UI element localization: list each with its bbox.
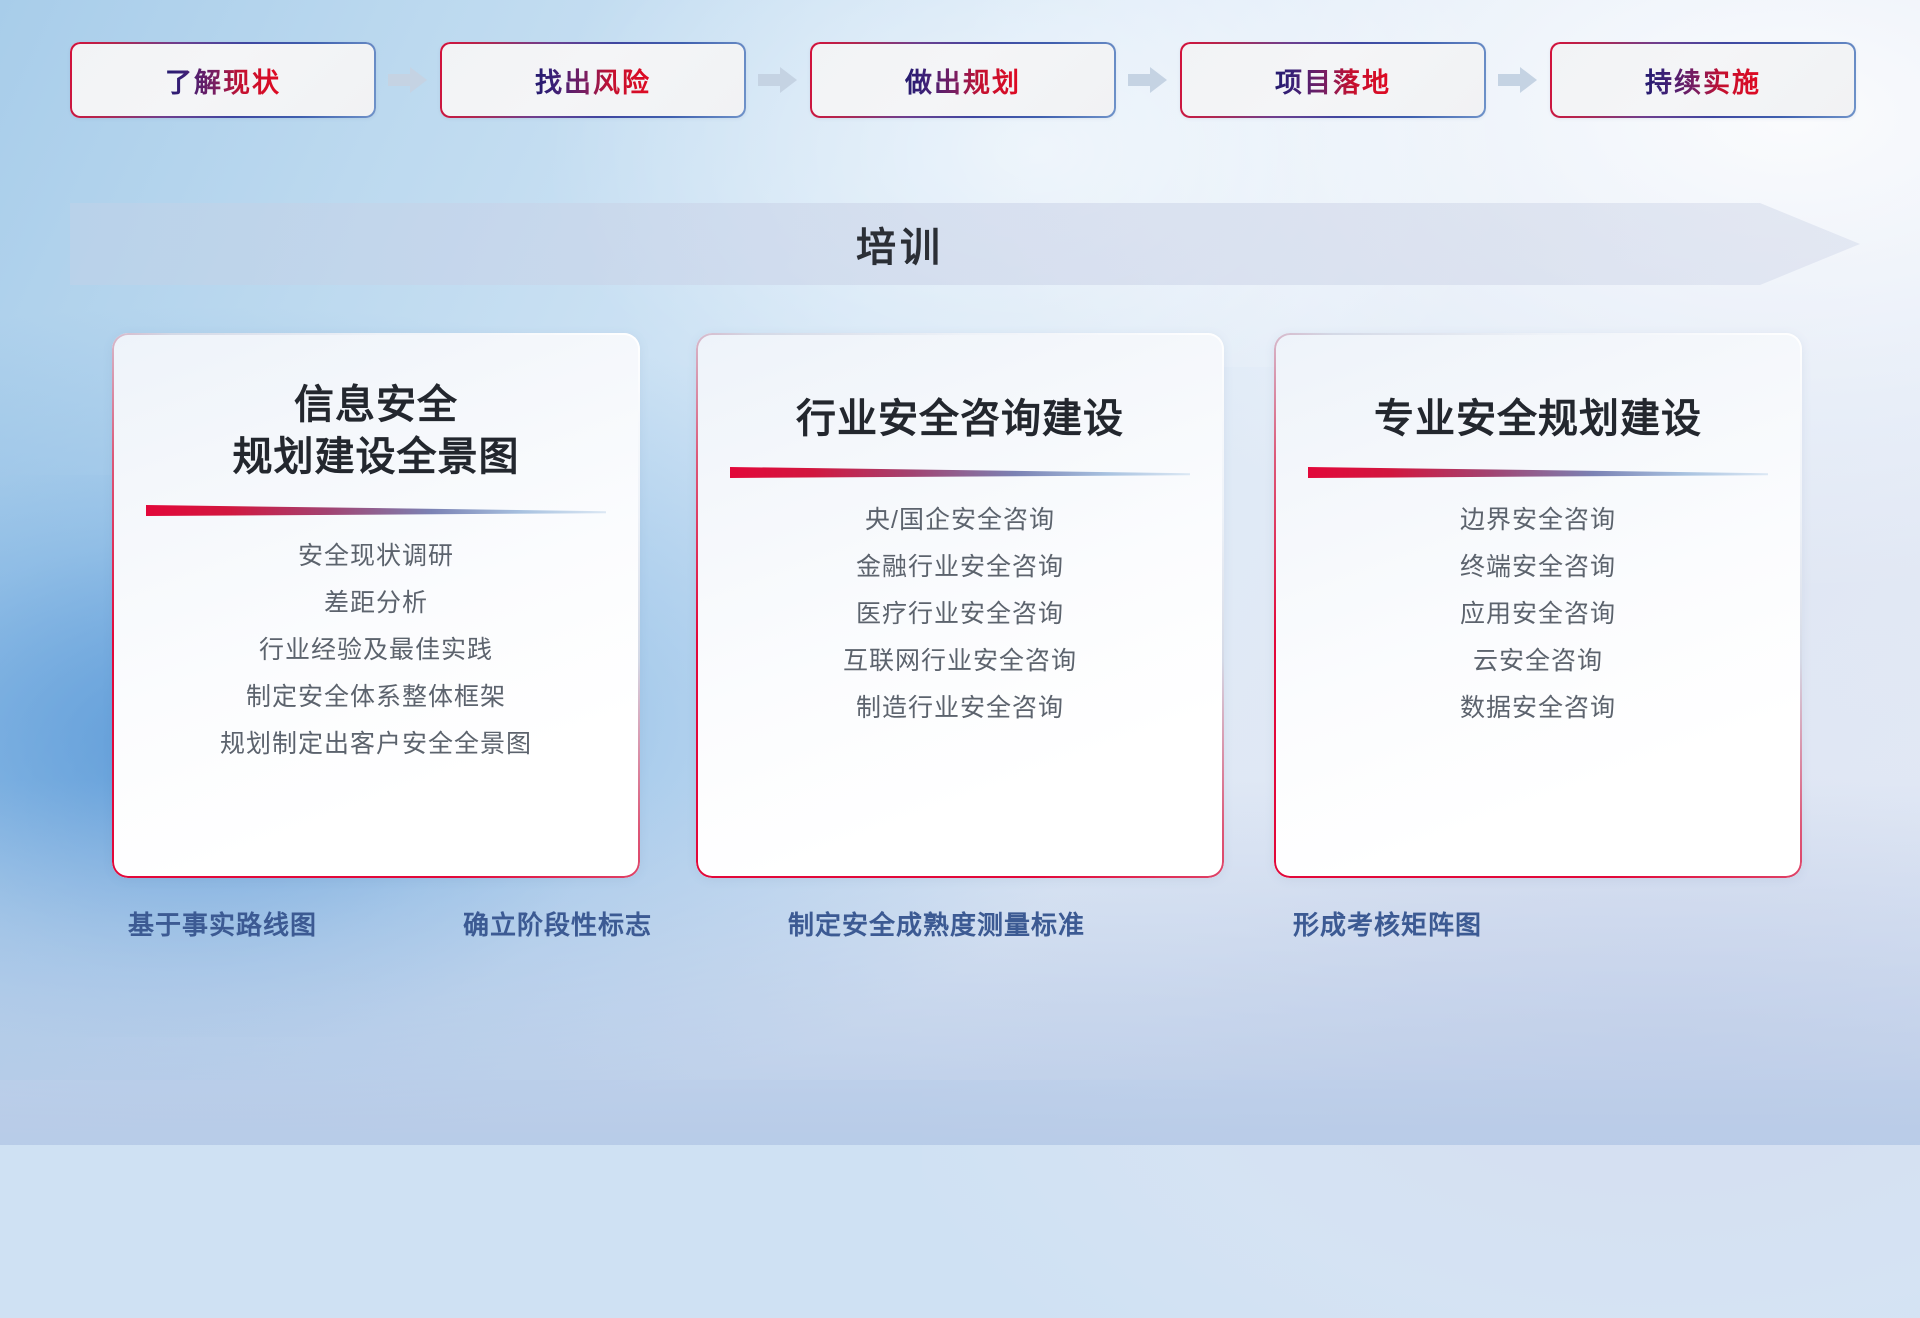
- list-item: 金融行业安全咨询: [856, 552, 1064, 582]
- list-item: 边界安全咨询: [1460, 505, 1616, 535]
- step-box-2[interactable]: 做出规划: [810, 42, 1116, 118]
- list-item: 规划制定出客户安全全景图: [220, 729, 532, 759]
- tapered-gradient-divider-icon: [1308, 465, 1768, 481]
- footer-label-roadmap: 基于事实路线图: [128, 905, 317, 942]
- step-arrow-3: [1486, 65, 1550, 95]
- list-item: 医疗行业安全咨询: [856, 599, 1064, 629]
- training-banner-label: 培训: [70, 203, 1730, 285]
- step-arrow-2: [1116, 65, 1180, 95]
- tapered-gradient-divider-icon: [146, 503, 606, 519]
- card-title: 行业安全咨询建设: [796, 393, 1124, 445]
- list-item: 数据安全咨询: [1460, 693, 1616, 723]
- step-label-3: 项目落地: [1275, 61, 1391, 100]
- list-item: 终端安全咨询: [1460, 552, 1616, 582]
- step-label-1: 找出风险: [535, 61, 651, 100]
- card-item-list: 央/国企安全咨询 金融行业安全咨询 医疗行业安全咨询 互联网行业安全咨询 制造行…: [843, 505, 1077, 723]
- step-arrow-1: [746, 65, 810, 95]
- card-item-list: 边界安全咨询 终端安全咨询 应用安全咨询 云安全咨询 数据安全咨询: [1460, 505, 1616, 723]
- list-item: 云安全咨询: [1473, 646, 1603, 676]
- list-item: 安全现状调研: [298, 541, 454, 571]
- footer-label-milestone: 确立阶段性标志: [463, 905, 652, 942]
- step-label-4: 持续实施: [1645, 61, 1761, 100]
- card-industry-security-consulting[interactable]: 行业安全咨询建设: [696, 333, 1224, 878]
- step-box-3[interactable]: 项目落地: [1180, 42, 1486, 118]
- cards-row: 信息安全 规划建设全景图: [0, 333, 1920, 878]
- card-divider: [730, 465, 1190, 481]
- list-item: 制定安全体系整体框架: [246, 682, 506, 712]
- step-wrap-0: 了解现状: [70, 42, 440, 118]
- list-item: 应用安全咨询: [1460, 599, 1616, 629]
- footer-label-matrix: 形成考核矩阵图: [1293, 905, 1482, 942]
- card-item-list: 安全现状调研 差距分析 行业经验及最佳实践 制定安全体系整体框架 规划制定出客户…: [220, 541, 532, 759]
- step-wrap-3: 项目落地: [1180, 42, 1550, 118]
- tapered-gradient-divider-icon: [730, 465, 1190, 481]
- list-item: 互联网行业安全咨询: [843, 646, 1077, 676]
- card-title: 专业安全规划建设: [1374, 393, 1702, 445]
- card-divider: [146, 503, 606, 519]
- step-box-0[interactable]: 了解现状: [70, 42, 376, 118]
- card-title: 信息安全 规划建设全景图: [233, 379, 520, 483]
- list-item: 制造行业安全咨询: [856, 693, 1064, 723]
- chevron-right-arrow-icon: [758, 65, 798, 95]
- footer-labels-row: 基于事实路线图 确立阶段性标志 制定安全成熟度测量标准 形成考核矩阵图: [0, 905, 1920, 965]
- step-wrap-2: 做出规划: [810, 42, 1180, 118]
- card-professional-security-planning[interactable]: 专业安全规划建设: [1274, 333, 1802, 878]
- list-item: 差距分析: [324, 588, 428, 618]
- step-wrap-1: 找出风险: [440, 42, 810, 118]
- step-wrap-4: 持续实施: [1550, 42, 1856, 118]
- footer-label-maturity: 制定安全成熟度测量标准: [788, 905, 1085, 942]
- list-item: 央/国企安全咨询: [865, 505, 1055, 535]
- step-arrow-0: [376, 65, 440, 95]
- step-box-1[interactable]: 找出风险: [440, 42, 746, 118]
- card-information-security-blueprint[interactable]: 信息安全 规划建设全景图: [112, 333, 640, 878]
- list-item: 行业经验及最佳实践: [259, 635, 493, 665]
- training-banner: 培训: [70, 203, 1860, 285]
- chevron-right-arrow-icon: [1128, 65, 1168, 95]
- step-label-0: 了解现状: [165, 61, 281, 100]
- step-label-2: 做出规划: [905, 61, 1021, 100]
- step-box-4[interactable]: 持续实施: [1550, 42, 1856, 118]
- chevron-right-arrow-icon: [1498, 65, 1538, 95]
- card-divider: [1308, 465, 1768, 481]
- process-steps-row: 了解现状 找出风险 做出规划 项目落地: [0, 0, 1920, 160]
- chevron-right-arrow-icon: [388, 65, 428, 95]
